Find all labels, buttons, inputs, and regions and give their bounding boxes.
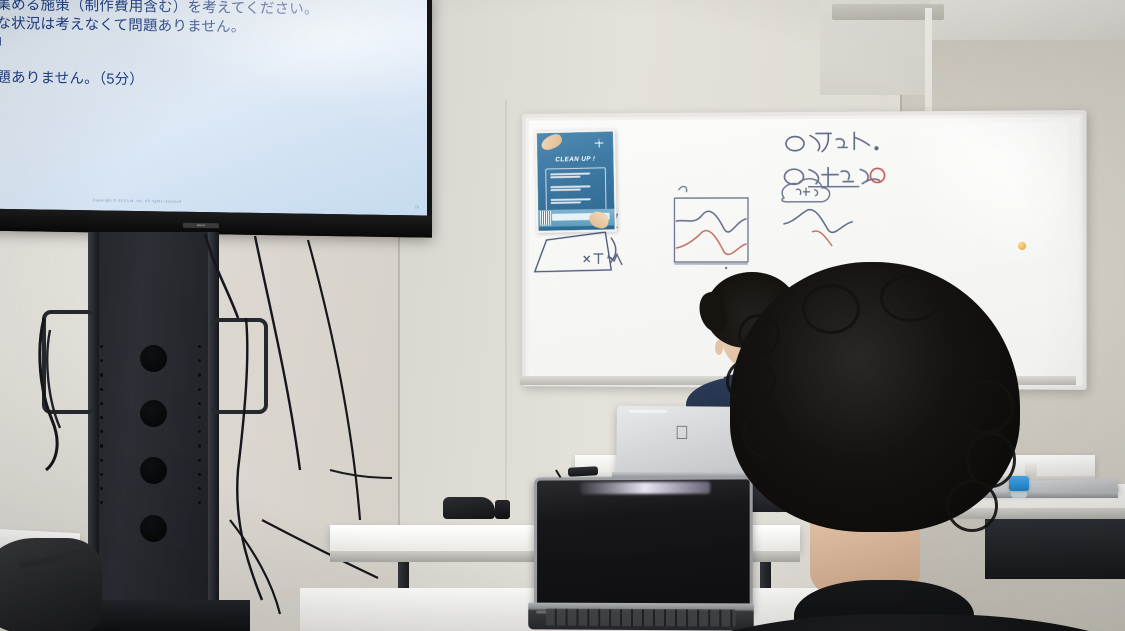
whiteboard-glare <box>900 123 1068 269</box>
poster-bullet-1 <box>550 172 602 176</box>
poster-bullet-box <box>545 167 606 214</box>
listener-curl-7 <box>802 284 860 334</box>
wall-seam-mid <box>505 100 507 520</box>
usb-dongle <box>568 466 598 477</box>
cart-hole-2 <box>140 400 167 427</box>
poster-barcode-illustration <box>540 211 551 226</box>
cart-dot-column-left <box>100 345 104 515</box>
listener-curl-8 <box>880 274 942 322</box>
listener-curl-2 <box>726 358 776 404</box>
poster-hand-illustration-top <box>539 132 564 152</box>
tv-cart-post-right <box>208 232 219 631</box>
monitor-screen: 場に集める施策（制作費用含む）を考えてください。 特殊な状況は考えなくて問題あり… <box>0 0 427 216</box>
cart-hole-3 <box>140 457 167 484</box>
floor-bag <box>0 538 102 631</box>
listener-curl-6 <box>946 480 998 532</box>
apple-logo-icon:  <box>674 424 691 444</box>
sparkle-icon <box>595 139 604 148</box>
cart-cable-hook-left[interactable] <box>42 310 96 414</box>
clean-up-poster: CLEAN UP ! <box>535 129 617 233</box>
poster-title: CLEAN UP ! <box>537 155 613 164</box>
desk-dark-object-2 <box>495 500 510 519</box>
listener-curl-1 <box>738 314 780 356</box>
window-blind-edge <box>925 8 932 126</box>
presentation-monitor[interactable]: 場に集める施策（制作費用含む）を考えてください。 特殊な状況は考えなくて問題あり… <box>0 0 432 238</box>
listener-curl-3 <box>742 408 788 458</box>
monitor-brand-label: aquos <box>183 223 219 229</box>
cart-hole-1 <box>140 345 167 372</box>
poster-bullet-2 <box>550 185 602 189</box>
foreground-listener <box>690 262 1110 631</box>
listener-curl-4 <box>960 380 1014 434</box>
cart-hole-4 <box>140 515 167 542</box>
cart-cable-hook-right[interactable] <box>210 318 268 414</box>
macbook-hinge-highlight <box>629 410 667 413</box>
screen-glare <box>0 0 427 216</box>
desk-dark-object <box>443 497 495 519</box>
cart-dot-column-right <box>198 345 202 515</box>
meeting-room-photo: 場に集める施策（制作費用含む）を考えてください。 特殊な状況は考えなくて問題あり… <box>0 0 1125 631</box>
poster-bullet-3 <box>551 198 603 202</box>
whiteboard-magnet[interactable] <box>1018 242 1026 250</box>
